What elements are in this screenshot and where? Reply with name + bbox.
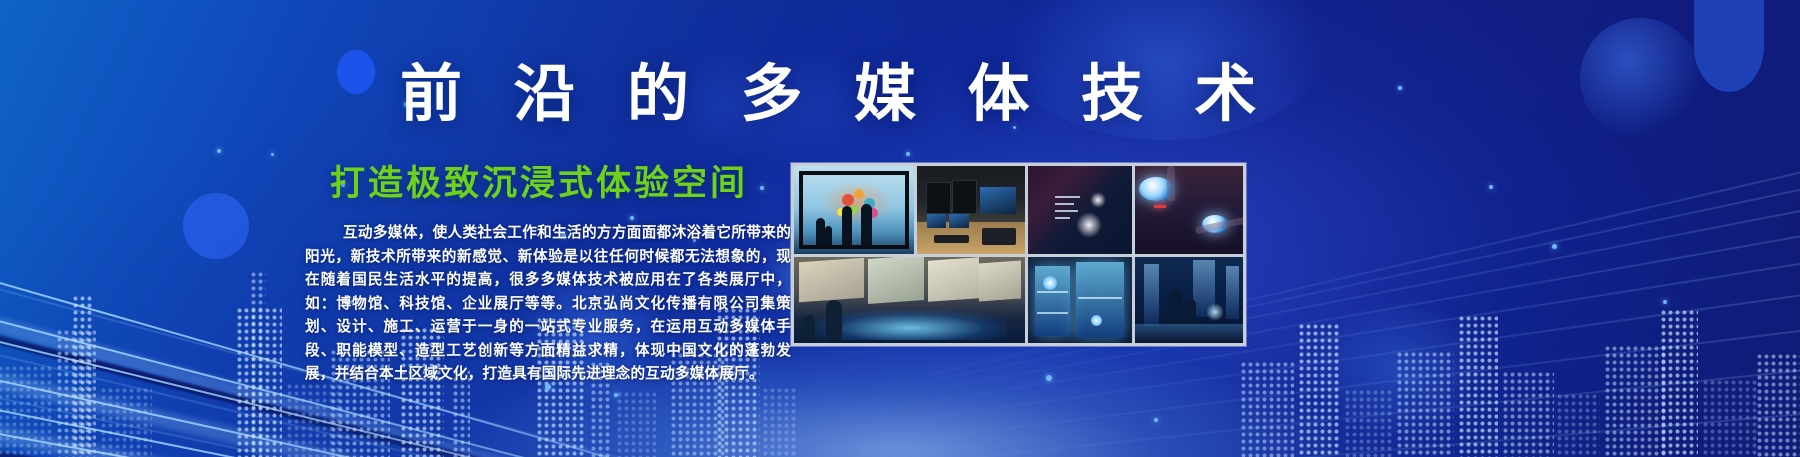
page-title: 前 沿 的 多 媒 体 技 术 [400, 60, 1200, 130]
collage-row-2 [794, 257, 1243, 343]
photo-control-room [917, 166, 1025, 254]
photo-dome-projection [1135, 166, 1243, 254]
photo-collage [791, 163, 1246, 346]
photo-silhouette-crowd [794, 166, 914, 254]
photo-exhibition-hall [1135, 257, 1243, 343]
multimedia-technology-banner: 前 沿 的 多 媒 体 技 术 打造极致沉浸式体验空间 互动多媒体，使人类社会工… [0, 0, 1800, 457]
photo-interactive-wall [1028, 166, 1132, 254]
photo-display-case [1028, 257, 1132, 343]
photo-interactive-table [794, 257, 1025, 343]
page-subtitle: 打造极致沉浸式体验空间 [330, 164, 748, 204]
collage-row-1 [794, 166, 1243, 254]
body-paragraph: 互动多媒体，使人类社会工作和生活的方方面面都沐浴着它所带来的阳光，新技术所带来的… [305, 222, 791, 387]
